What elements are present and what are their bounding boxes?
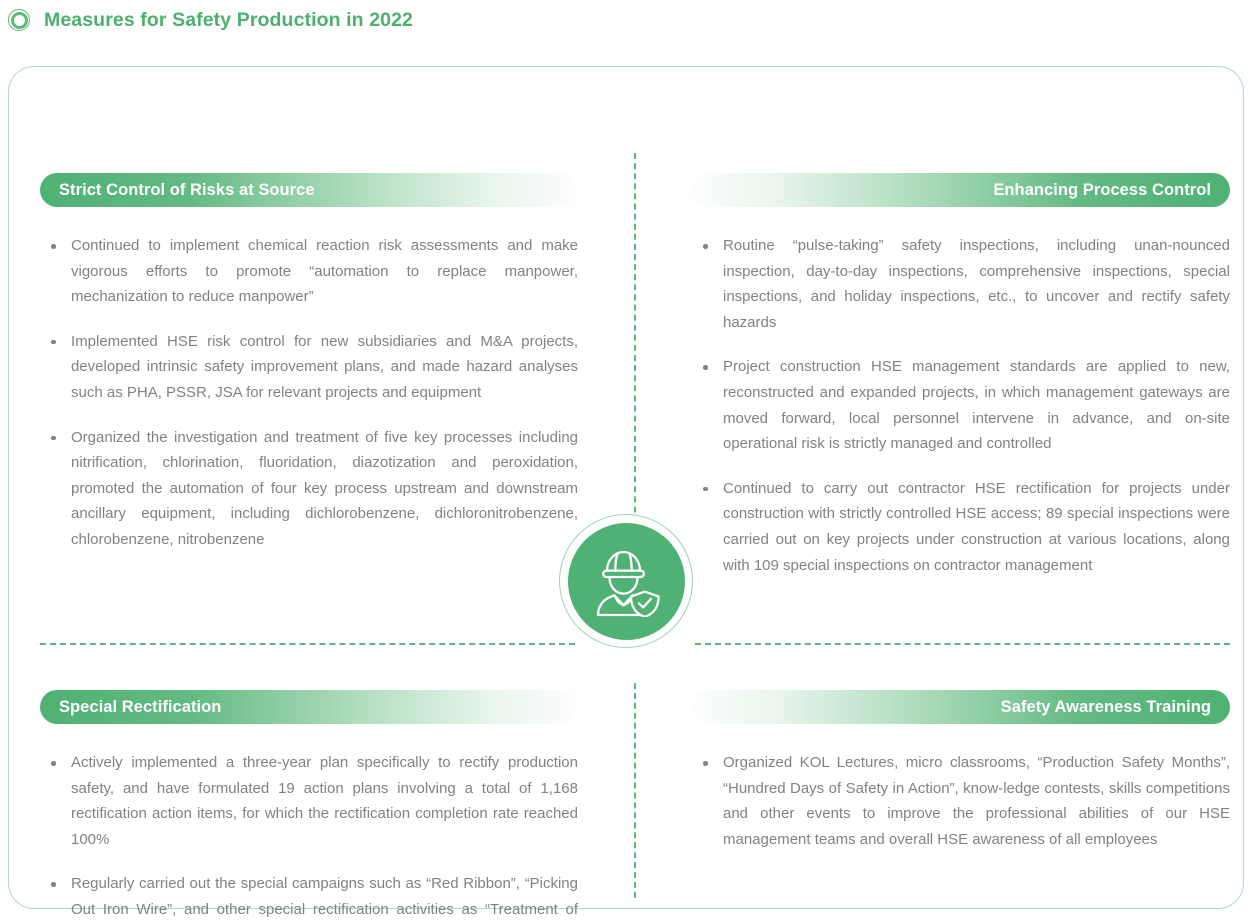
section-header-pill: Enhancing Process Control xyxy=(692,173,1230,207)
section-bullet-list: Actively implemented a three-year plan s… xyxy=(40,750,578,921)
section-safety-awareness-training: Safety Awareness Training Organized KOL … xyxy=(692,690,1230,852)
safety-worker-shield-icon xyxy=(568,523,685,640)
section-strict-control-of-risks-at-source: Strict Control of Risks at Source Contin… xyxy=(40,173,578,553)
list-item: Actively implemented a three-year plan s… xyxy=(40,750,578,852)
section-bullet-list: Organized KOL Lectures, micro classrooms… xyxy=(692,750,1230,852)
page-title-row: Measures for Safety Production in 2022 xyxy=(8,4,413,36)
safety-production-infographic: Measures for Safety Production in 2022 S… xyxy=(0,0,1252,921)
section-header-pill: Strict Control of Risks at Source xyxy=(40,173,578,207)
vertical-divider-upper xyxy=(634,153,636,563)
horizontal-divider-right xyxy=(695,643,1230,645)
section-title: Special Rectification xyxy=(59,698,221,717)
list-item: Organized the investigation and treatmen… xyxy=(40,425,578,553)
section-title: Safety Awareness Training xyxy=(1001,698,1211,717)
section-enhancing-process-control: Enhancing Process Control Routine “pulse… xyxy=(692,173,1230,578)
horizontal-divider-left xyxy=(40,643,575,645)
list-item: Continued to implement chemical reaction… xyxy=(40,233,578,310)
center-badge xyxy=(559,514,693,648)
ring-circle-icon xyxy=(8,9,30,31)
section-header-pill: Safety Awareness Training xyxy=(692,690,1230,724)
section-header-pill: Special Rectification xyxy=(40,690,578,724)
content-card: Strict Control of Risks at Source Contin… xyxy=(8,66,1244,909)
list-item: Routine “pulse-taking” safety inspection… xyxy=(692,233,1230,335)
section-title: Enhancing Process Control xyxy=(993,181,1211,200)
page-title: Measures for Safety Production in 2022 xyxy=(44,9,413,32)
vertical-divider-lower xyxy=(634,683,636,898)
list-item: Project construction HSE management stan… xyxy=(692,354,1230,456)
section-bullet-list: Continued to implement chemical reaction… xyxy=(40,233,578,553)
list-item: Organized KOL Lectures, micro classrooms… xyxy=(692,750,1230,852)
list-item: Implemented HSE risk control for new sub… xyxy=(40,329,578,406)
list-item: Continued to carry out contractor HSE re… xyxy=(692,476,1230,578)
section-special-rectification: Special Rectification Actively implement… xyxy=(40,690,578,921)
section-title: Strict Control of Risks at Source xyxy=(59,181,315,200)
list-item: Regularly carried out the special campai… xyxy=(40,871,578,921)
section-bullet-list: Routine “pulse-taking” safety inspection… xyxy=(692,233,1230,578)
